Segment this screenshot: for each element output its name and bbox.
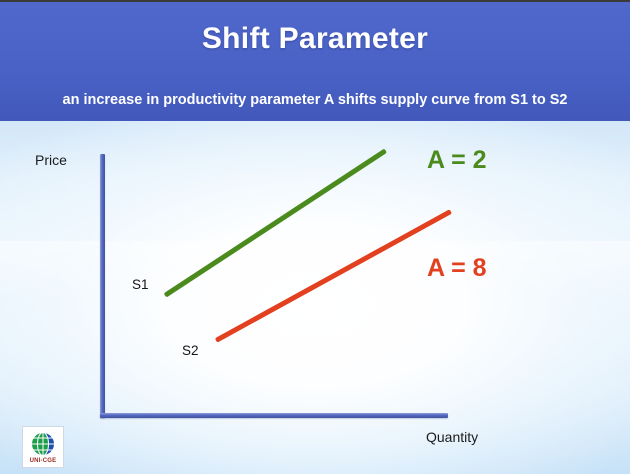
y-axis-label: Price xyxy=(35,152,67,168)
slide-subtitle: an increase in productivity parameter A … xyxy=(0,90,630,110)
annotation-a-equals-8: A = 8 xyxy=(427,254,487,282)
page-title: Shift Parameter xyxy=(0,20,630,58)
annotation-a-equals-2: A = 2 xyxy=(427,146,487,174)
globe-icon xyxy=(29,431,57,457)
logo-text: UNI-CGE xyxy=(30,458,57,465)
y-axis xyxy=(100,154,105,418)
x-axis xyxy=(100,413,448,418)
supply-curve-s1-label: S1 xyxy=(132,277,149,292)
x-axis-label: Quantity xyxy=(426,429,478,445)
chart-canvas xyxy=(0,121,630,474)
slide-header-banner: Shift Parameter an increase in productiv… xyxy=(0,2,630,121)
organization-logo: UNI-CGE xyxy=(22,426,64,468)
background-sheen xyxy=(0,241,630,301)
presentation-slide: Shift Parameter an increase in productiv… xyxy=(0,0,630,474)
supply-curve-s2-label: S2 xyxy=(182,343,199,358)
